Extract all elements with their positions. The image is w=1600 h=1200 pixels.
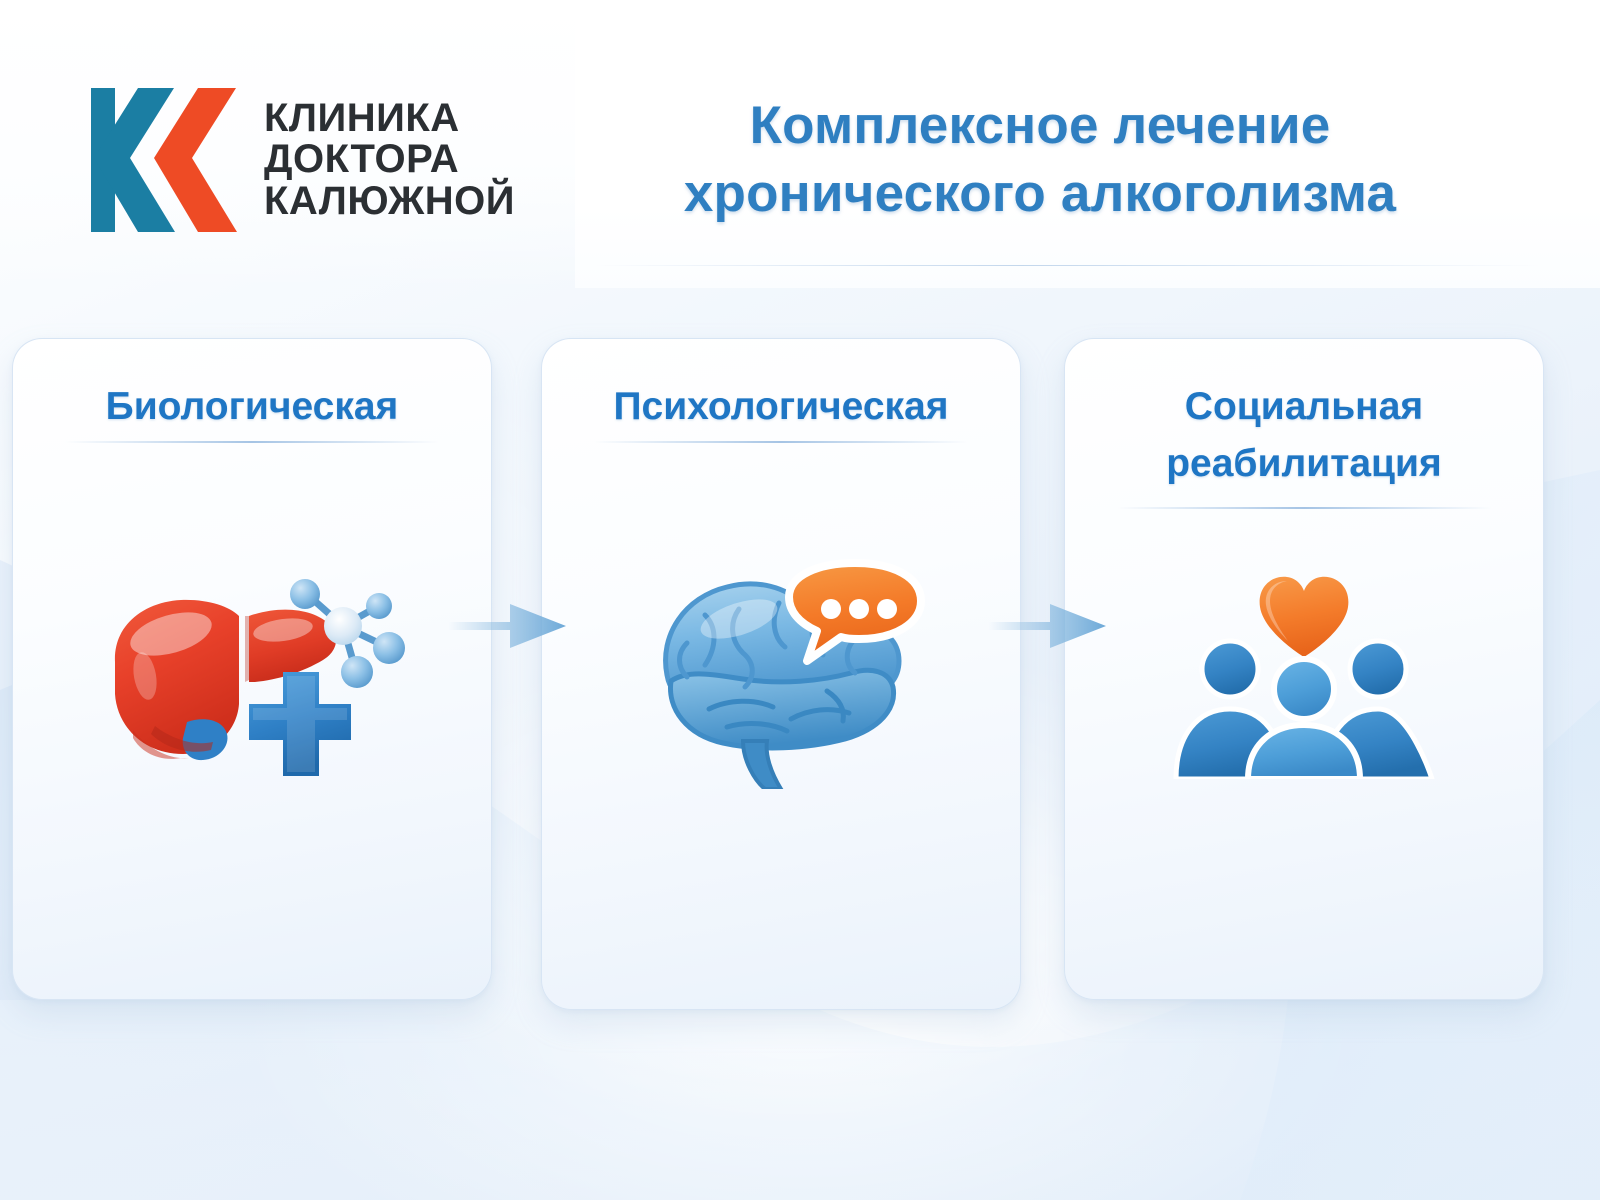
title-divider [594, 441, 968, 443]
stage-card-biological[interactable]: Биологическая [12, 338, 492, 1000]
title-divider [1117, 507, 1491, 509]
stage-card-social-rehabilitation[interactable]: Социальная реабилитация [1064, 338, 1544, 1000]
infographic-canvas: КЛИНИКА ДОКТОРА КАЛЮЖНОЙ Комплексное леч… [0, 0, 1600, 1200]
arrow-stage-2-to-3-icon [988, 596, 1108, 656]
stage-title-line-1: Социальная [1065, 379, 1543, 436]
stage-title-line-2: реабилитация [1065, 436, 1543, 493]
liver-cross-molecule-icon [13, 519, 491, 819]
stage-title-psychological: Психологическая [542, 379, 1020, 436]
stage-title-line-1: Психологическая [542, 379, 1020, 436]
title-divider [65, 441, 439, 443]
stage-card-psychological[interactable]: Психологическая [541, 338, 1021, 1010]
people-group-heart-icon [1065, 519, 1543, 819]
brain-speech-bubble-icon [542, 519, 1020, 819]
stage-title-line-1: Биологическая [13, 379, 491, 436]
stage-title-social-rehabilitation: Социальная реабилитация [1065, 379, 1543, 492]
stage-title-biological: Биологическая [13, 379, 491, 436]
arrow-stage-1-to-2-icon [448, 596, 568, 656]
